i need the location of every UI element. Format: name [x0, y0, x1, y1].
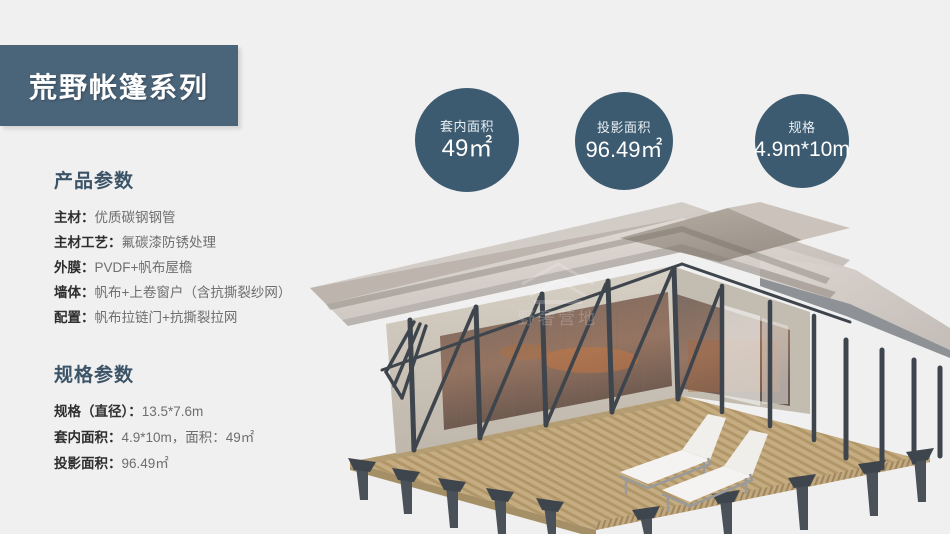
spec-value: 氟碳漆防锈处理 [122, 235, 217, 250]
spec-value: 13.5*7.6m [142, 404, 204, 419]
spec-value: 帆布+上卷窗户（含抗撕裂纱网） [95, 285, 292, 300]
stat-badge-value: 96.49㎡ [585, 137, 662, 163]
spec-label: 配置： [54, 310, 95, 325]
product-render-image: 野奢营地 [290, 200, 950, 534]
stat-badge-label: 规格 [788, 120, 815, 135]
spec-value: 帆布拉链门+抗撕裂拉网 [95, 310, 238, 325]
section-heading-product: 产品参数 [54, 166, 354, 193]
stat-badge-dimensions: 规格 4.9m*10m [755, 94, 849, 188]
spec-value: 4.9*10m，面积：49㎡ [122, 430, 255, 445]
spec-label: 墙体： [54, 285, 95, 300]
spec-label: 套内面积： [54, 430, 122, 445]
stat-badge-label: 投影面积 [597, 120, 651, 135]
stat-badge-label: 套内面积 [440, 119, 494, 134]
stat-badge-group: 套内面积 49㎡ 投影面积 96.49㎡ 规格 4.9m*10m [410, 88, 870, 196]
spec-value: 优质碳钢钢管 [95, 210, 176, 225]
slide-canvas: 荒野帐篷系列 产品参数 主材：优质碳钢钢管 主材工艺：氟碳漆防锈处理 外膜：PV… [0, 0, 950, 534]
title-banner: 荒野帐篷系列 [0, 45, 238, 126]
stat-badge-value: 49㎡ [442, 136, 493, 162]
spec-value: PVDF+帆布屋檐 [95, 260, 193, 275]
spec-label: 主材： [54, 210, 95, 225]
stat-badge-interior-area: 套内面积 49㎡ [415, 88, 519, 192]
spec-label: 规格（直径）： [54, 404, 142, 419]
tent-render-svg: 野奢营地 [290, 200, 950, 534]
spec-label: 外膜： [54, 260, 95, 275]
page-title: 荒野帐篷系列 [29, 66, 209, 106]
stat-badge-projected-area: 投影面积 96.49㎡ [575, 92, 673, 190]
svg-text:野奢营地: 野奢营地 [518, 309, 598, 328]
spec-label: 主材工艺： [54, 235, 122, 250]
stat-badge-value: 4.9m*10m [754, 137, 850, 163]
spec-value: 96.49㎡ [122, 456, 169, 471]
spec-label: 投影面积： [54, 456, 122, 471]
